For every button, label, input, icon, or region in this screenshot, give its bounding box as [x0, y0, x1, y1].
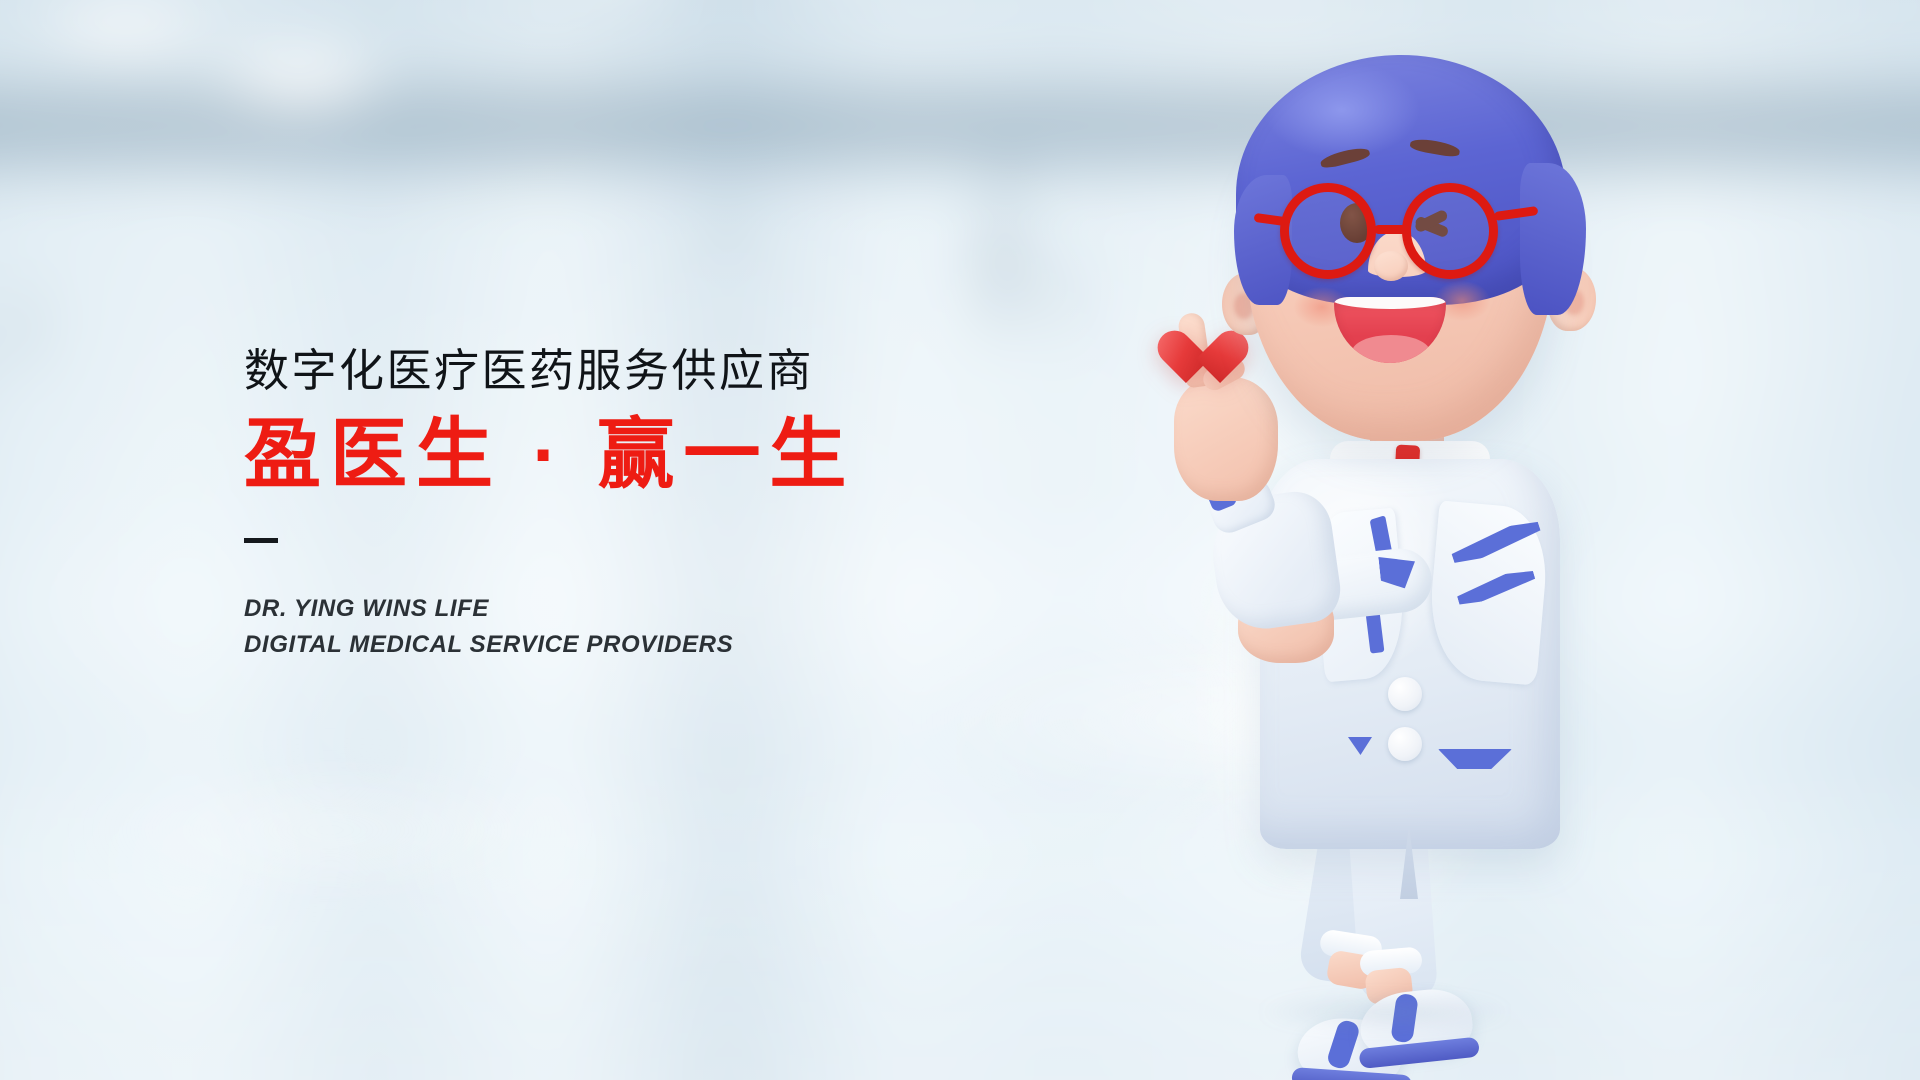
hero-banner: 数字化医疗医药服务供应商 盈医生 · 赢一生 DR. YING WINS LIF… — [0, 0, 1920, 1080]
coat-button-bottom — [1388, 727, 1422, 761]
english-line-2: DIGITAL MEDICAL SERVICE PROVIDERS — [244, 627, 1004, 663]
coat-accent-small — [1348, 737, 1372, 755]
heart-icon — [1176, 323, 1234, 377]
hero-subheadline: 数字化医疗医药服务供应商 — [244, 348, 1004, 393]
divider-dash — [244, 538, 278, 543]
glasses-lens-left — [1280, 183, 1376, 279]
hero-copy-block: 数字化医疗医药服务供应商 盈医生 · 赢一生 DR. YING WINS LIF… — [244, 348, 1004, 663]
english-line-1: DR. YING WINS LIFE — [244, 591, 1004, 627]
doctor-mascot — [1200, 55, 1620, 1035]
mascot-head — [1228, 55, 1588, 455]
coat-pocket-flap — [1438, 749, 1512, 769]
glasses-bridge — [1374, 225, 1410, 234]
shoe-sole-back — [1291, 1067, 1412, 1080]
hero-english-subtitle: DR. YING WINS LIFE DIGITAL MEDICAL SERVI… — [244, 591, 1004, 663]
glasses-temple-right — [1494, 206, 1539, 221]
tongue — [1352, 335, 1430, 363]
mascot-ground-shadow — [1260, 995, 1510, 1029]
hero-headline: 盈医生 · 赢一生 — [244, 417, 1004, 494]
coat-button-top — [1388, 677, 1422, 711]
mascot-body — [1220, 413, 1620, 1033]
round-glasses-icon — [1280, 183, 1542, 289]
background-floor-reflection — [0, 600, 1920, 1080]
glasses-lens-right — [1402, 183, 1498, 279]
